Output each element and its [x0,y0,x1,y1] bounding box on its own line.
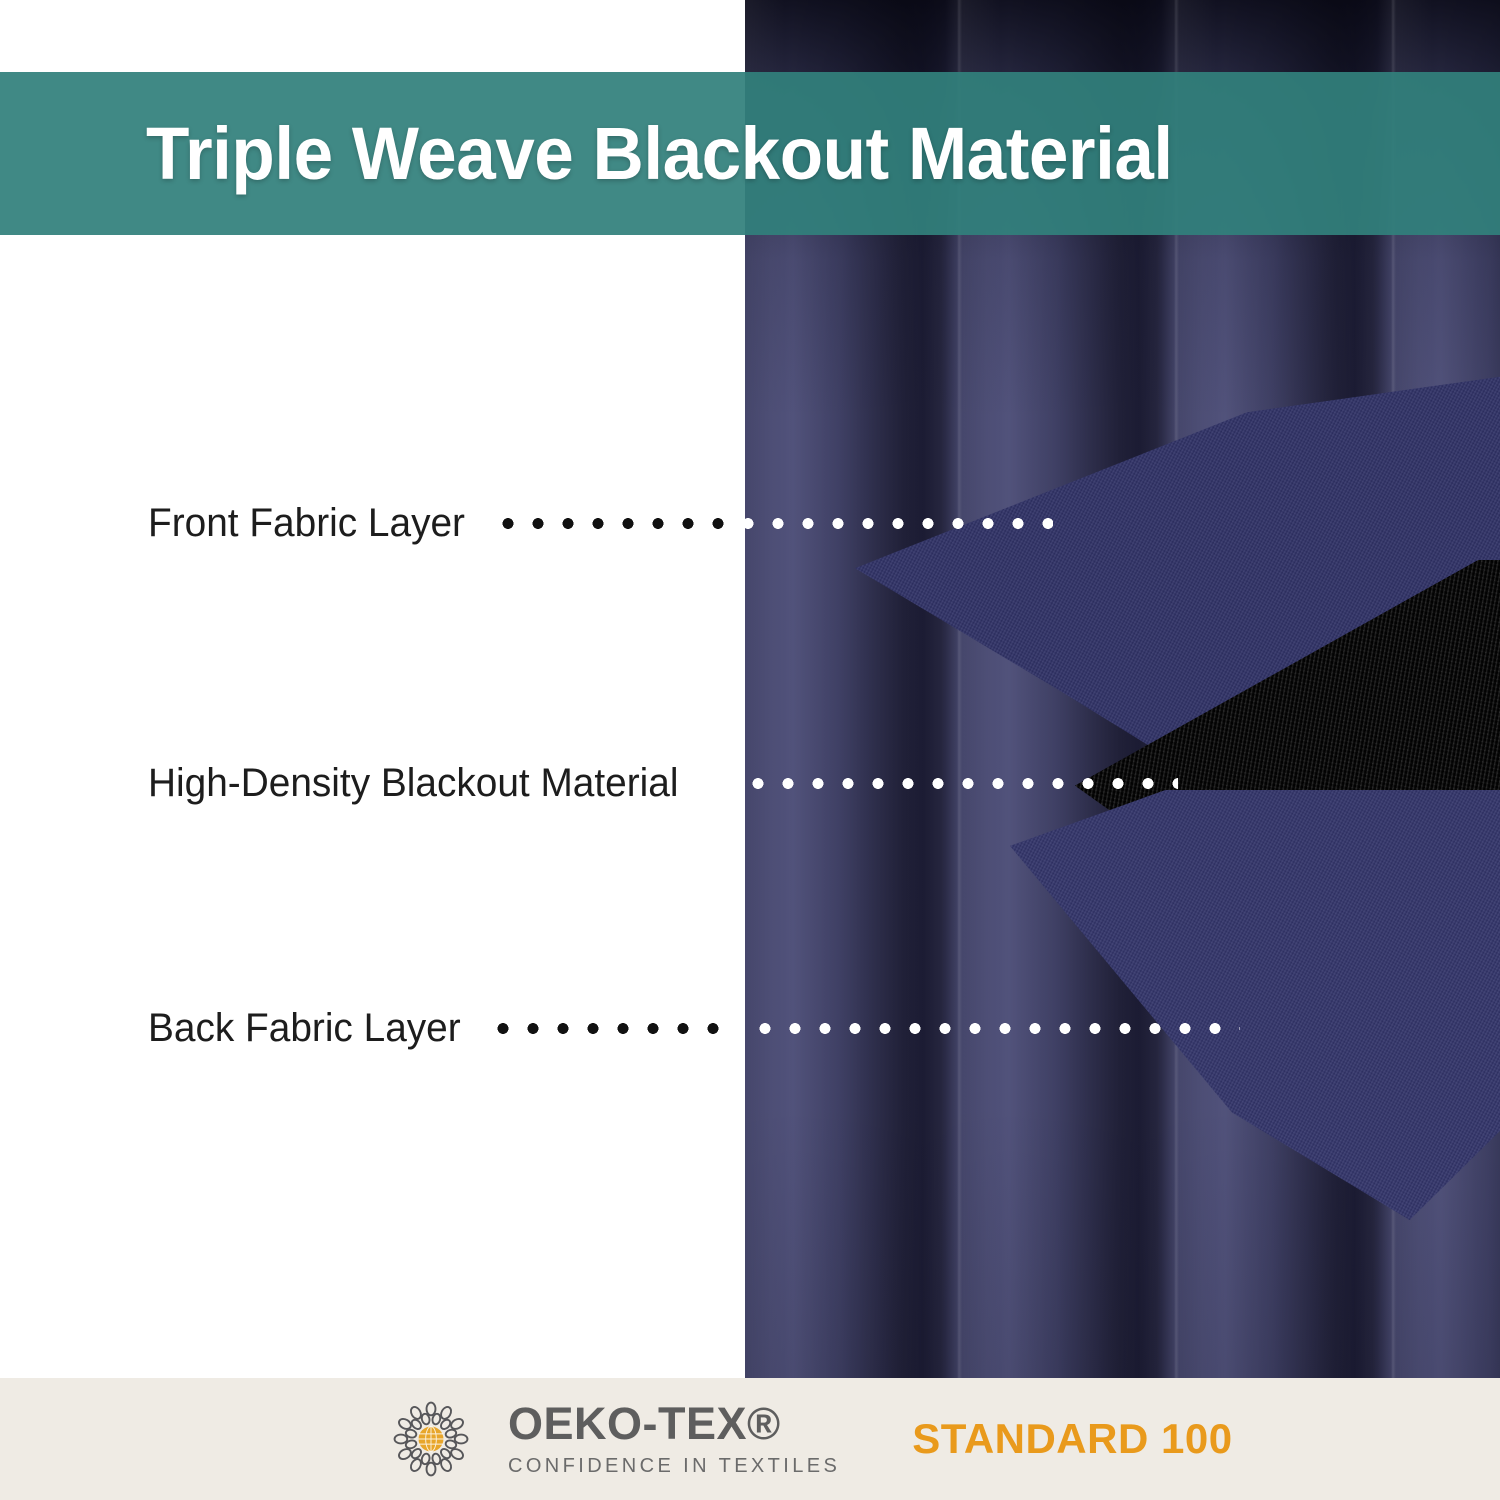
oeko-tex-tagline: CONFIDENCE IN TEXTILES [508,1455,840,1478]
callout-front-fabric-layer: Front Fabric Layer [148,503,1053,543]
callout-label: Back Fabric Layer [148,1006,461,1051]
oeko-tex-flower-icon [388,1396,474,1482]
headline-banner: Triple Weave Blackout Material [0,72,1500,235]
product-infographic: Triple Weave Blackout Material Front Fab… [0,0,1500,1500]
leader-dots-light [733,518,1053,529]
callout-blackout-material: High-Density Blackout Material [148,763,1178,803]
callout-label: High-Density Blackout Material [148,761,678,806]
oeko-tex-name: OEKO-TEX® [508,1401,840,1446]
leader-dots-light [713,778,1178,789]
oeko-tex-wordmark: OEKO-TEX® CONFIDENCE IN TEXTILES [508,1401,840,1478]
leader-dots-dark [493,518,733,529]
leader-dots-light [720,1023,1240,1034]
standard-100-label: STANDARD 100 [912,1415,1232,1463]
leader-dots-dark [488,1023,720,1034]
callout-label: Front Fabric Layer [148,501,465,546]
callout-back-fabric-layer: Back Fabric Layer [148,1008,1240,1048]
certification-footer: OEKO-TEX® CONFIDENCE IN TEXTILES STANDAR… [0,1378,1500,1500]
oeko-tex-logo: OEKO-TEX® CONFIDENCE IN TEXTILES [388,1396,840,1482]
page-title: Triple Weave Blackout Material [146,111,1173,196]
